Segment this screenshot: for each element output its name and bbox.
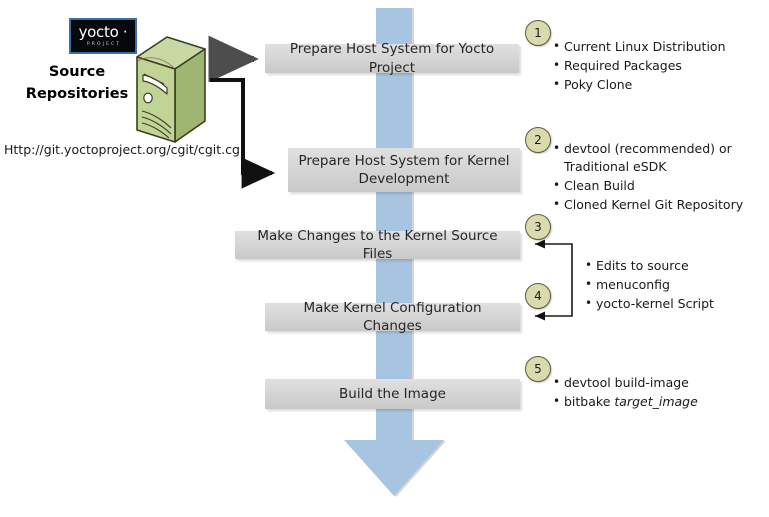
process-box-label: Make Changes to the Kernel Source Files xyxy=(245,227,510,263)
process-box-label: Build the Image xyxy=(339,385,446,403)
process-box-prepare-host-kernel[interactable]: Prepare Host System for Kernel Developme… xyxy=(288,148,520,192)
step-badge-number: 3 xyxy=(534,220,542,234)
step-badge-4: 4 xyxy=(525,283,551,309)
source-repositories-label: Source Repositories xyxy=(14,62,140,106)
step-badge-1: 1 xyxy=(525,20,551,46)
note-item: yocto-kernel Script xyxy=(596,295,763,313)
note-item: Clean Build xyxy=(564,177,763,195)
process-box-make-config-changes[interactable]: Make Kernel Configuration Changes xyxy=(265,303,520,331)
yocto-logo-submark: PROJECT xyxy=(85,43,121,48)
process-box-make-source-changes[interactable]: Make Changes to the Kernel Source Files xyxy=(235,231,520,259)
step-badge-number: 4 xyxy=(534,289,542,303)
step-badge-3: 3 xyxy=(525,214,551,240)
note-item: Poky Clone xyxy=(564,76,761,94)
note-item-bitbake: bitbake target_image xyxy=(564,393,761,411)
process-box-label: Prepare Host System for Yocto Project xyxy=(275,40,509,76)
note-bitbake-prefix: bitbake xyxy=(564,394,614,409)
note-item: devtool build-image xyxy=(564,374,761,392)
kernel-development-workflow-diagram: yocto · PROJECT Source Repositories Http… xyxy=(0,0,769,517)
note-item: menuconfig xyxy=(596,276,763,294)
step-badge-number: 5 xyxy=(534,362,542,376)
main-flow-arrow-head xyxy=(344,440,444,496)
server-tower-icon xyxy=(133,35,209,145)
step-badge-number: 2 xyxy=(534,133,542,147)
notes-step-3-and-4: Edits to source menuconfig yocto-kernel … xyxy=(583,257,763,314)
process-box-prepare-host-yocto[interactable]: Prepare Host System for Yocto Project xyxy=(265,44,519,73)
yocto-logo-wordmark: yocto · xyxy=(79,25,128,40)
step-badge-2: 2 xyxy=(525,127,551,153)
note-item: Required Packages xyxy=(564,57,761,75)
notes-step-1: Current Linux Distribution Required Pack… xyxy=(551,38,761,95)
yocto-project-logo: yocto · PROJECT xyxy=(69,18,137,54)
process-box-build-image[interactable]: Build the Image xyxy=(265,379,520,409)
note-item: devtool (recommended) or Traditional eSD… xyxy=(564,140,763,176)
note-item: Cloned Kernel Git Repository xyxy=(564,196,763,214)
note-bitbake-target: target_image xyxy=(614,394,697,409)
source-repositories-label-line1: Source xyxy=(14,62,140,84)
step-badge-5: 5 xyxy=(525,356,551,382)
process-box-label: Make Kernel Configuration Changes xyxy=(275,299,510,335)
connector-source-to-step2 xyxy=(210,80,272,173)
notes-step-5: devtool build-image bitbake target_image xyxy=(551,374,761,412)
note-item: Edits to source xyxy=(596,257,763,275)
source-repositories-label-line2: Repositories xyxy=(14,84,140,106)
notes-step-2: devtool (recommended) or Traditional eSD… xyxy=(551,140,763,216)
note-item: Current Linux Distribution xyxy=(564,38,761,56)
process-box-label: Prepare Host System for Kernel Developme… xyxy=(298,152,510,188)
step-badge-number: 1 xyxy=(534,26,542,40)
